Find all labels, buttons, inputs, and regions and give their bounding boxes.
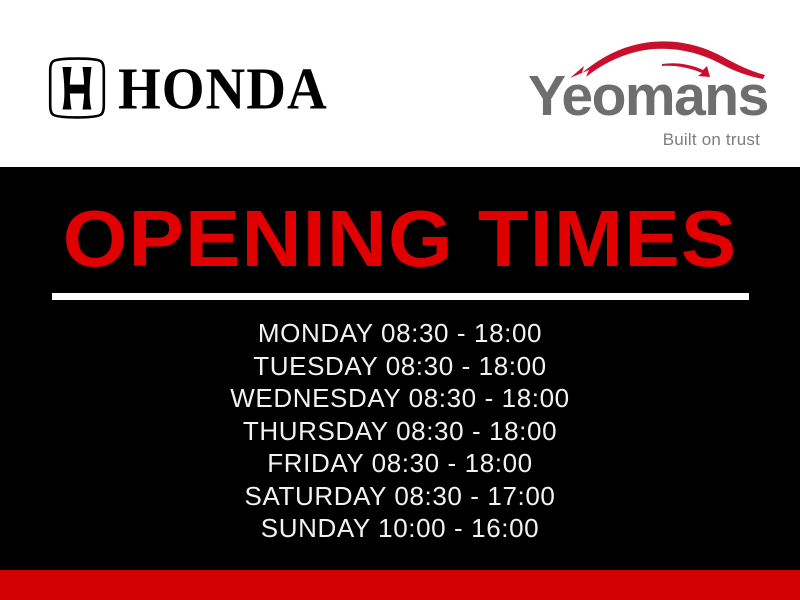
logo-header: HONDA Yeomans Built on trust <box>0 0 800 167</box>
list-item: THURSDAY 08:30 - 18:00 <box>0 415 800 448</box>
yeomans-logo: Yeomans Built on trust <box>528 30 768 140</box>
opening-times-sign: HONDA Yeomans Built on trust OPENING TIM… <box>0 0 800 600</box>
list-item: MONDAY 08:30 - 18:00 <box>0 317 800 350</box>
opening-times-panel: OPENING TIMES MONDAY 08:30 - 18:00 TUESD… <box>0 167 800 570</box>
yeomans-wordmark: Yeomans <box>528 68 768 125</box>
list-item: SUNDAY 10:00 - 16:00 <box>0 512 800 545</box>
page-title: OPENING TIMES <box>0 199 800 279</box>
honda-logo: HONDA <box>48 55 328 121</box>
opening-hours-list: MONDAY 08:30 - 18:00 TUESDAY 08:30 - 18:… <box>0 317 800 545</box>
yeomans-tagline: Built on trust <box>663 131 760 148</box>
honda-h-emblem-icon <box>48 57 106 119</box>
honda-wordmark: HONDA <box>118 58 328 117</box>
list-item: WEDNESDAY 08:30 - 18:00 <box>0 382 800 415</box>
footer-accent-bar <box>0 570 800 600</box>
list-item: FRIDAY 08:30 - 18:00 <box>0 447 800 480</box>
list-item: TUESDAY 08:30 - 18:00 <box>0 350 800 383</box>
title-divider <box>52 293 749 300</box>
list-item: SATURDAY 08:30 - 17:00 <box>0 480 800 513</box>
